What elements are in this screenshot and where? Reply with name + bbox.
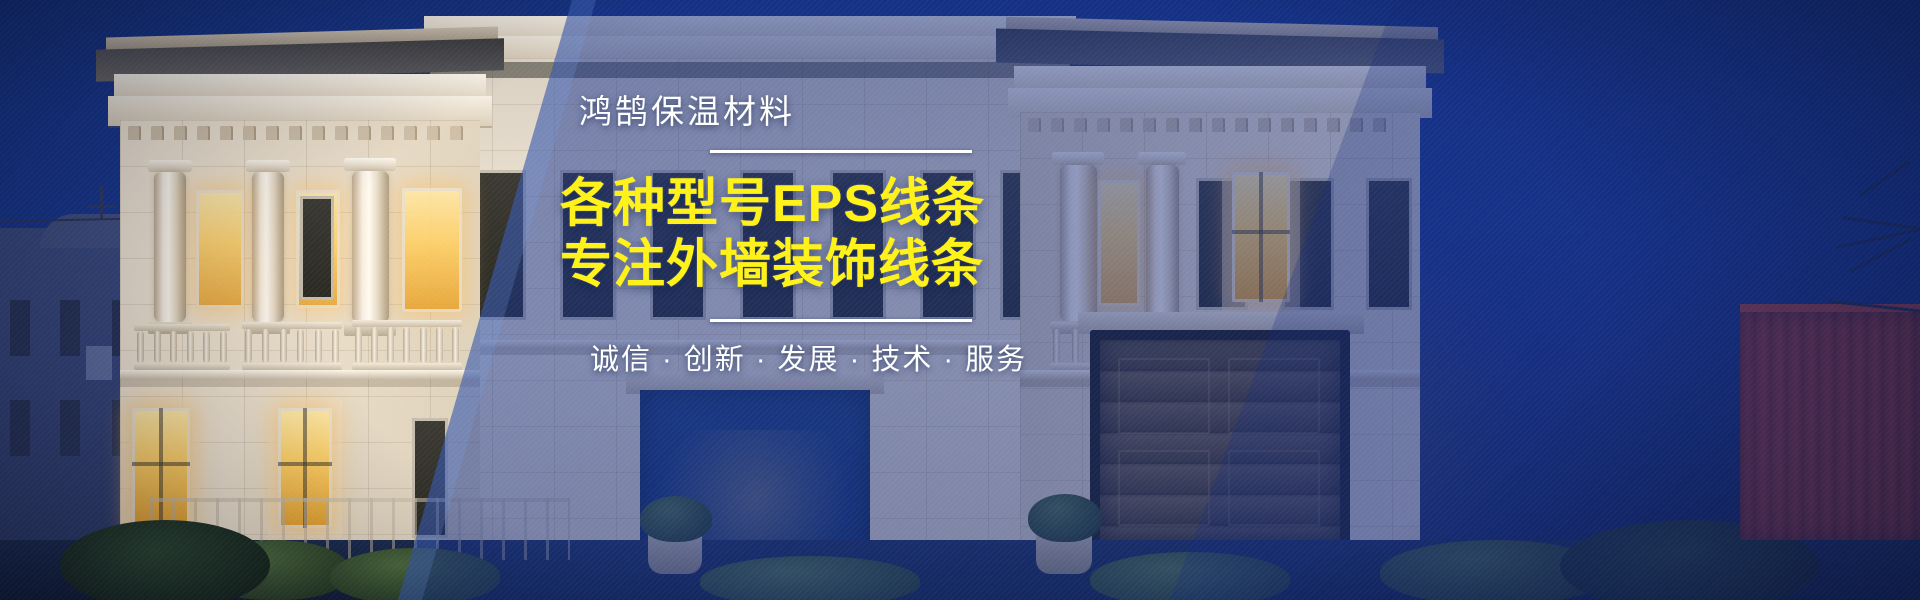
brand-tagline: 诚信 · 创新 · 发展 · 技术 · 服务 — [590, 346, 1020, 375]
divider-top — [710, 150, 972, 153]
banner-text-block: 鸿鹄保温材料 各种型号EPS线条 专注外墙装饰线条 诚信 · 创新 · 发展 ·… — [560, 95, 1020, 375]
headline-line-1: 各种型号EPS线条 — [560, 177, 1020, 232]
headline-line-2: 专注外墙装饰线条 — [560, 238, 1020, 293]
brand-subtitle: 鸿鹄保温材料 — [579, 95, 1020, 128]
promo-banner: 鸿鹄保温材料 各种型号EPS线条 专注外墙装饰线条 诚信 · 创新 · 发展 ·… — [0, 0, 1920, 600]
divider-bottom — [710, 319, 972, 322]
headline-group: 各种型号EPS线条 专注外墙装饰线条 — [560, 177, 1020, 293]
